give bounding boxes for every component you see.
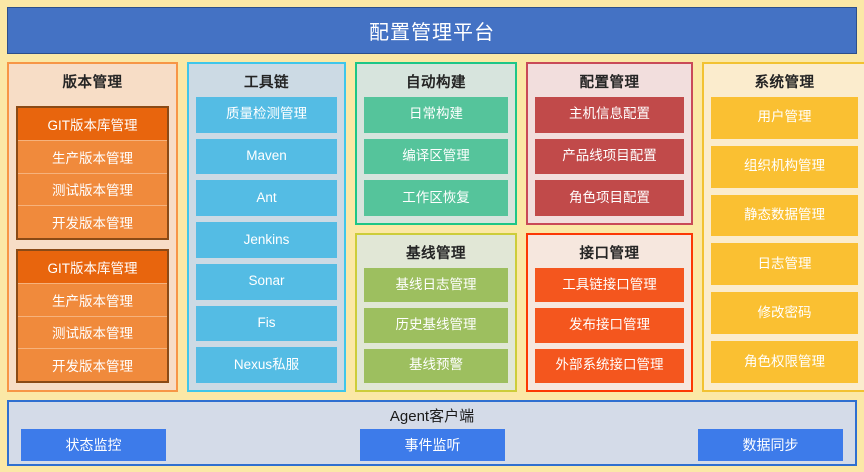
toolchain-item-sonar[interactable]: Sonar xyxy=(196,264,337,300)
system-item-organization[interactable]: 组织机构管理 xyxy=(711,146,858,188)
panel-version-management[interactable]: 版本管理 GIT版本库管理 生产版本管理 测试版本管理 开发版本管理 GIT版本… xyxy=(7,62,178,392)
platform-title-banner: 配置管理平台 xyxy=(7,7,857,54)
repo-group-2-row-dev[interactable]: 开发版本管理 xyxy=(18,348,167,381)
baseline-item-history[interactable]: 历史基线管理 xyxy=(364,308,508,342)
baseline-item-alert[interactable]: 基线预警 xyxy=(364,349,508,383)
panel-body-baseline-management: 基线日志管理 历史基线管理 基线预警 xyxy=(364,268,508,383)
panel-config-management[interactable]: 配置管理 主机信息配置 产品线项目配置 角色项目配置 xyxy=(526,62,693,225)
toolchain-item-nexus[interactable]: Nexus私服 xyxy=(196,347,337,383)
repo-group-2[interactable]: GIT版本库管理 生产版本管理 测试版本管理 开发版本管理 xyxy=(16,249,169,383)
system-item-role-permission[interactable]: 角色权限管理 xyxy=(711,341,858,383)
system-item-user[interactable]: 用户管理 xyxy=(711,97,858,139)
toolchain-item-ant[interactable]: Ant xyxy=(196,180,337,216)
baseline-item-log[interactable]: 基线日志管理 xyxy=(364,268,508,302)
panel-title-system-management: 系统管理 xyxy=(711,69,858,97)
auto-build-item-daily[interactable]: 日常构建 xyxy=(364,97,508,133)
panel-title-auto-build: 自动构建 xyxy=(364,69,508,97)
system-item-static-data[interactable]: 静态数据管理 xyxy=(711,195,858,237)
panel-toolchain[interactable]: 工具链 质量检测管理 Maven Ant Jenkins Sonar Fis N… xyxy=(187,62,346,392)
panel-agent-client[interactable]: Agent客户端 状态监控 事件监听 数据同步 xyxy=(7,400,857,466)
repo-group-1[interactable]: GIT版本库管理 生产版本管理 测试版本管理 开发版本管理 xyxy=(16,106,169,240)
auto-build-item-compile-zone[interactable]: 编译区管理 xyxy=(364,139,508,175)
column-system: 系统管理 用户管理 组织机构管理 静态数据管理 日志管理 修改密码 角色权限管理 xyxy=(702,62,864,392)
repo-group-1-row-test[interactable]: 测试版本管理 xyxy=(18,173,167,206)
agent-client-buttons: 状态监控 事件监听 数据同步 xyxy=(9,426,855,464)
panel-body-system-management: 用户管理 组织机构管理 静态数据管理 日志管理 修改密码 角色权限管理 xyxy=(711,97,858,383)
config-item-host-info[interactable]: 主机信息配置 xyxy=(535,97,684,133)
repo-group-1-row-dev[interactable]: 开发版本管理 xyxy=(18,205,167,238)
agent-button-event-listener[interactable]: 事件监听 xyxy=(360,429,505,461)
panel-body-config-management: 主机信息配置 产品线项目配置 角色项目配置 xyxy=(535,97,684,216)
system-item-change-password[interactable]: 修改密码 xyxy=(711,292,858,334)
repo-group-1-row-prod[interactable]: 生产版本管理 xyxy=(18,140,167,173)
panel-title-baseline-management: 基线管理 xyxy=(364,240,508,268)
repo-group-2-row-prod[interactable]: 生产版本管理 xyxy=(18,283,167,316)
repo-group-1-header[interactable]: GIT版本库管理 xyxy=(18,108,167,140)
panel-body-auto-build: 日常构建 编译区管理 工作区恢复 xyxy=(364,97,508,216)
diagram-root: 配置管理平台 版本管理 GIT版本库管理 生产版本管理 测试版本管理 开发版本管… xyxy=(0,0,864,472)
panel-body-version-management: GIT版本库管理 生产版本管理 测试版本管理 开发版本管理 GIT版本库管理 生… xyxy=(16,106,169,383)
auto-build-item-workspace-restore[interactable]: 工作区恢复 xyxy=(364,180,508,216)
config-item-role-project[interactable]: 角色项目配置 xyxy=(535,180,684,216)
agent-button-data-sync[interactable]: 数据同步 xyxy=(698,429,843,461)
panel-title-api-management: 接口管理 xyxy=(535,240,684,268)
panel-title-config-management: 配置管理 xyxy=(535,69,684,97)
toolchain-item-fis[interactable]: Fis xyxy=(196,306,337,342)
panel-title-agent-client: Agent客户端 xyxy=(9,402,855,426)
panel-auto-build[interactable]: 自动构建 日常构建 编译区管理 工作区恢复 xyxy=(355,62,517,225)
column-version: 版本管理 GIT版本库管理 生产版本管理 测试版本管理 开发版本管理 GIT版本… xyxy=(7,62,178,392)
column-toolchain: 工具链 质量检测管理 Maven Ant Jenkins Sonar Fis N… xyxy=(187,62,346,392)
api-item-release[interactable]: 发布接口管理 xyxy=(535,308,684,342)
panel-body-api-management: 工具链接口管理 发布接口管理 外部系统接口管理 xyxy=(535,268,684,383)
panel-title-toolchain: 工具链 xyxy=(196,69,337,97)
page-title: 配置管理平台 xyxy=(369,16,495,45)
column-config: 配置管理 主机信息配置 产品线项目配置 角色项目配置 接口管理 工具链接口管理 … xyxy=(526,62,693,392)
panel-api-management[interactable]: 接口管理 工具链接口管理 发布接口管理 外部系统接口管理 xyxy=(526,233,693,392)
toolchain-item-maven[interactable]: Maven xyxy=(196,139,337,175)
panel-system-management[interactable]: 系统管理 用户管理 组织机构管理 静态数据管理 日志管理 修改密码 角色权限管理 xyxy=(702,62,864,392)
agent-button-status-monitor[interactable]: 状态监控 xyxy=(21,429,166,461)
panel-body-toolchain: 质量检测管理 Maven Ant Jenkins Sonar Fis Nexus… xyxy=(196,97,337,383)
column-build: 自动构建 日常构建 编译区管理 工作区恢复 基线管理 基线日志管理 历史基线管理… xyxy=(355,62,517,392)
system-item-log[interactable]: 日志管理 xyxy=(711,243,858,285)
repo-group-2-row-test[interactable]: 测试版本管理 xyxy=(18,316,167,349)
config-item-product-line-project[interactable]: 产品线项目配置 xyxy=(535,139,684,175)
toolchain-item-jenkins[interactable]: Jenkins xyxy=(196,222,337,258)
api-item-external-system[interactable]: 外部系统接口管理 xyxy=(535,349,684,383)
repo-group-2-header[interactable]: GIT版本库管理 xyxy=(18,251,167,283)
module-columns: 版本管理 GIT版本库管理 生产版本管理 测试版本管理 开发版本管理 GIT版本… xyxy=(7,62,857,392)
panel-baseline-management[interactable]: 基线管理 基线日志管理 历史基线管理 基线预警 xyxy=(355,233,517,392)
panel-title-version-management: 版本管理 xyxy=(16,69,169,97)
api-item-toolchain[interactable]: 工具链接口管理 xyxy=(535,268,684,302)
toolchain-item-quality-check[interactable]: 质量检测管理 xyxy=(196,97,337,133)
